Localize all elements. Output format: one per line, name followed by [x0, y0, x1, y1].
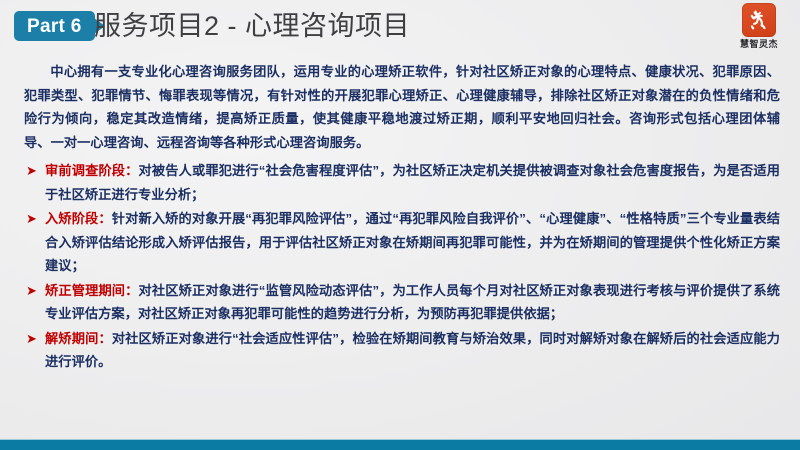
list-item: ➤解矫期间：对社区矫正对象进行“社会适应性评估”，检验在矫期间教育与矫治效果，同…: [24, 327, 780, 374]
part-badge: Part 6: [14, 11, 105, 41]
list-item-term: 审前调查阶段：: [45, 163, 139, 178]
list-item: ➤审前调查阶段：对被告人或罪犯进行“社会危害程度评估”，为社区矫正决定机关提供被…: [24, 159, 780, 206]
slide-body: 中心拥有一支专业化心理咨询服务团队，运用专业的心理矫正软件，针对社区矫正对象的心…: [24, 60, 780, 375]
list-item-text: 对社区矫正对象进行“社会适应性评估”，检验在矫期间教育与矫治效果，同时对解矫对象…: [45, 331, 780, 370]
list-item-term: 矫正管理期间：: [45, 283, 139, 298]
company-logo: 慧智灵杰: [726, 3, 792, 55]
part-badge-label: Part 6: [14, 11, 95, 41]
page-title: 服务项目2 - 心理咨询项目: [94, 4, 410, 48]
list-item: ➤入矫阶段：针对新入矫的对象开展“再犯罪风险评估”，通过“再犯罪风险自我评价”、…: [24, 207, 780, 278]
arrow-bullet-icon: ➤: [26, 327, 37, 351]
slide-header: Part 6 服务项目2 - 心理咨询项目 慧智灵杰: [0, 0, 800, 52]
company-logo-text: 慧智灵杰: [740, 39, 778, 49]
bottom-accent-bar: [0, 440, 800, 450]
list-item-text: 对被告人或罪犯进行“社会危害程度评估”，为社区矫正决定机关提供被调查对象社会危害…: [45, 163, 780, 202]
list-item: ➤矫正管理期间：对社区矫正对象进行“监管风险动态评估”，为工作人员每个月对社区矫…: [24, 279, 780, 326]
arrow-bullet-icon: ➤: [26, 159, 37, 183]
arrow-bullet-icon: ➤: [26, 207, 37, 231]
arrow-bullet-icon: ➤: [26, 279, 37, 303]
slide-canvas: Part 6 服务项目2 - 心理咨询项目 慧智灵杰 中心拥有一支专业化心理咨询…: [0, 0, 800, 450]
list-item-term: 入矫阶段：: [45, 211, 112, 226]
list-item-text: 对社区矫正对象进行“监管风险动态评估”，为工作人员每个月对社区矫正对象表现进行考…: [45, 283, 780, 322]
list-item-term: 解矫期间：: [45, 331, 112, 346]
qilin-emblem-icon: [742, 3, 776, 37]
list-item-text: 针对新入矫的对象开展“再犯罪风险评估”，通过“再犯罪风险自我评价”、“心理健康”…: [45, 211, 780, 273]
intro-paragraph: 中心拥有一支专业化心理咨询服务团队，运用专业的心理矫正软件，针对社区矫正对象的心…: [24, 60, 780, 154]
bullet-list: ➤审前调查阶段：对被告人或罪犯进行“社会危害程度评估”，为社区矫正决定机关提供被…: [24, 159, 780, 374]
